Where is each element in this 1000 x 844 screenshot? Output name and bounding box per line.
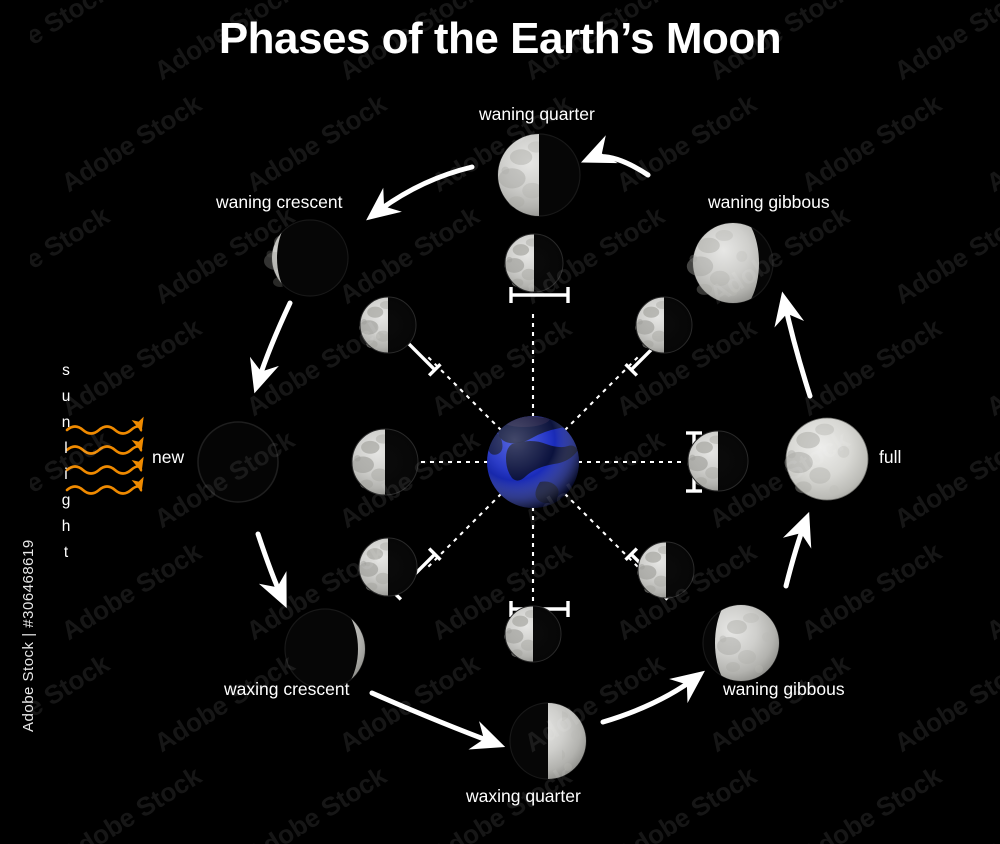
- page-title: Phases of the Earth’s Moon: [0, 14, 1000, 64]
- sunlight-letter-u: u: [55, 384, 77, 410]
- sunlight-letter-l: l: [55, 436, 77, 462]
- sunlight-letter-i: i: [55, 462, 77, 488]
- sunlight-letter-n: n: [55, 410, 77, 436]
- moon-phases-diagram: [0, 0, 1000, 844]
- label-waning-crescent: waning crescent: [216, 192, 342, 213]
- poster-canvas: Phases of the Earth’s Moon s u n l i g h…: [0, 0, 1000, 844]
- label-full: full: [879, 447, 901, 468]
- label-waxing-crescent: waxing crescent: [224, 679, 349, 700]
- inner-moon-waxing-gibbous: [637, 542, 694, 598]
- outer-moon-new: [198, 422, 278, 502]
- sunlight-label: s u n l i g h t: [55, 358, 77, 566]
- watermark-sidebar: Adobe Stock | #306468619: [0, 0, 30, 844]
- outer-moon-waning-quarter: [498, 134, 580, 216]
- outer-moon-waxing-gibbous: [703, 605, 779, 681]
- sunlight-letter-s: s: [55, 358, 77, 384]
- inner-moon-waxing-crescent: [358, 538, 417, 596]
- inner-moon-waning-gibbous: [635, 297, 692, 353]
- sunlight-letter-g: g: [55, 488, 77, 514]
- label-waning-gibbous-top: waning gibbous: [708, 192, 830, 213]
- sunlight-letter-h: h: [55, 514, 77, 540]
- inner-moon-full: [687, 431, 748, 491]
- watermark-sidebar-text: Adobe Stock | #306468619: [20, 492, 37, 732]
- label-waning-quarter: waning quarter: [479, 104, 595, 125]
- sunlight-letter-t: t: [55, 540, 77, 566]
- inner-moon-waning-quarter: [504, 234, 563, 292]
- label-new: new: [152, 447, 184, 468]
- inner-moon-waning-crescent: [359, 297, 416, 353]
- label-waxing-quarter: waxing quarter: [466, 786, 581, 807]
- outer-moon-waxing-crescent: [285, 609, 365, 689]
- diagram-background: [0, 0, 1000, 844]
- outer-moon-waxing-quarter: [510, 703, 586, 779]
- inner-moon-waxing-quarter: [504, 606, 561, 662]
- inner-moon-new: [352, 429, 418, 495]
- label-waning-gibbous-bottom: waning gibbous: [723, 679, 845, 700]
